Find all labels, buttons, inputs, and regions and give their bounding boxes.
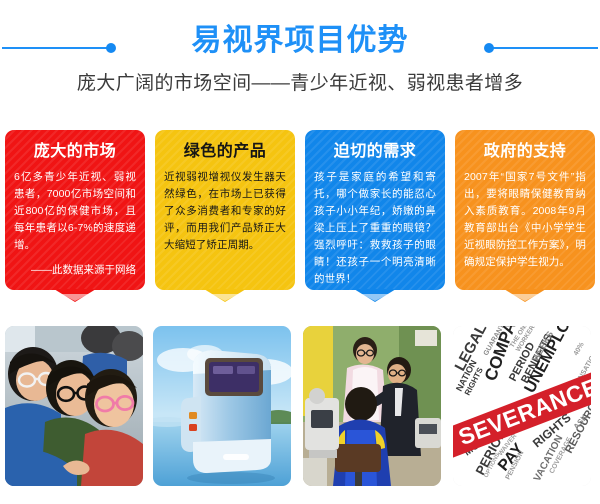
- card-tail-inner-shape: [511, 294, 539, 301]
- card-title: 迫切的需求: [314, 140, 436, 164]
- card-title: 绿色的产品: [164, 140, 286, 164]
- card-tail-inner-shape: [61, 294, 89, 301]
- eye-examination-clinic-photo: [303, 326, 441, 486]
- card-body: 2007年“国家7号文件”指出，要将眼睛保健教育纳入素质教育。2008年9月教育…: [464, 169, 586, 271]
- card-tail-shape: [54, 289, 96, 302]
- page-header: 易视界项目优势 庞大广阔的市场空间——青少年近视、弱视患者增多: [0, 0, 600, 118]
- advantage-card-government[interactable]: 政府的支持 2007年“国家7号文件”指出，要将眼睛保健教育纳入素质教育。200…: [455, 130, 595, 290]
- card-tail-inner-shape: [211, 294, 239, 301]
- card-tail-shape: [204, 289, 246, 302]
- card-body: 孩子是家庭的希望和寄托，哪个做家长的能忍心孩子小小年纪，娇嫩的鼻梁上压上了重重的…: [314, 169, 436, 288]
- card-tail-shape: [354, 289, 396, 302]
- card-title: 政府的支持: [464, 140, 586, 164]
- advantage-card-product[interactable]: 绿色的产品 近视弱视增视仪发生器天然绿色，在市场上已获得了众多消费者和专家的好评…: [155, 130, 295, 290]
- card-body: 6亿多青少年近视、弱视患者，7000亿市场空间和近800亿的保健市场，且每年患者…: [14, 169, 136, 254]
- severance-pack-wordcloud-photo: LEGAL NATION RIGHTS COMPANY GUARANTEED T…: [453, 326, 591, 486]
- page-title: 易视界项目优势: [0, 21, 600, 61]
- card-body: 近视弱视增视仪发生器天然绿色，在市场上已获得了众多消费者和专家的好评，而用我们产…: [164, 169, 286, 254]
- card-tail-shape: [504, 289, 546, 302]
- advantage-card-market[interactable]: 庞大的市场 6亿多青少年近视、弱视患者，7000亿市场空间和近800亿的保健市场…: [5, 130, 145, 290]
- advantage-card-list: 庞大的市场 6亿多青少年近视、弱视患者，7000亿市场空间和近800亿的保健市场…: [0, 130, 600, 310]
- photo-gallery: LEGAL NATION RIGHTS COMPANY GUARANTEED T…: [0, 326, 600, 498]
- advantage-card-demand[interactable]: 迫切的需求 孩子是家庭的希望和寄托，哪个做家长的能忍心孩子小小年纪，娇嫩的鼻梁上…: [305, 130, 445, 290]
- promo-page: 易视界项目优势 庞大广阔的市场空间——青少年近视、弱视患者增多 庞大的市场 6亿…: [0, 0, 600, 504]
- page-subtitle: 庞大广阔的市场空间——青少年近视、弱视患者增多: [0, 70, 600, 98]
- vision-device-product-photo: [153, 326, 291, 486]
- card-source-note: ——此数据来源于网络: [14, 262, 136, 278]
- students-wearing-glasses-photo: [5, 326, 143, 486]
- card-title: 庞大的市场: [14, 140, 136, 164]
- card-tail-inner-shape: [361, 294, 389, 301]
